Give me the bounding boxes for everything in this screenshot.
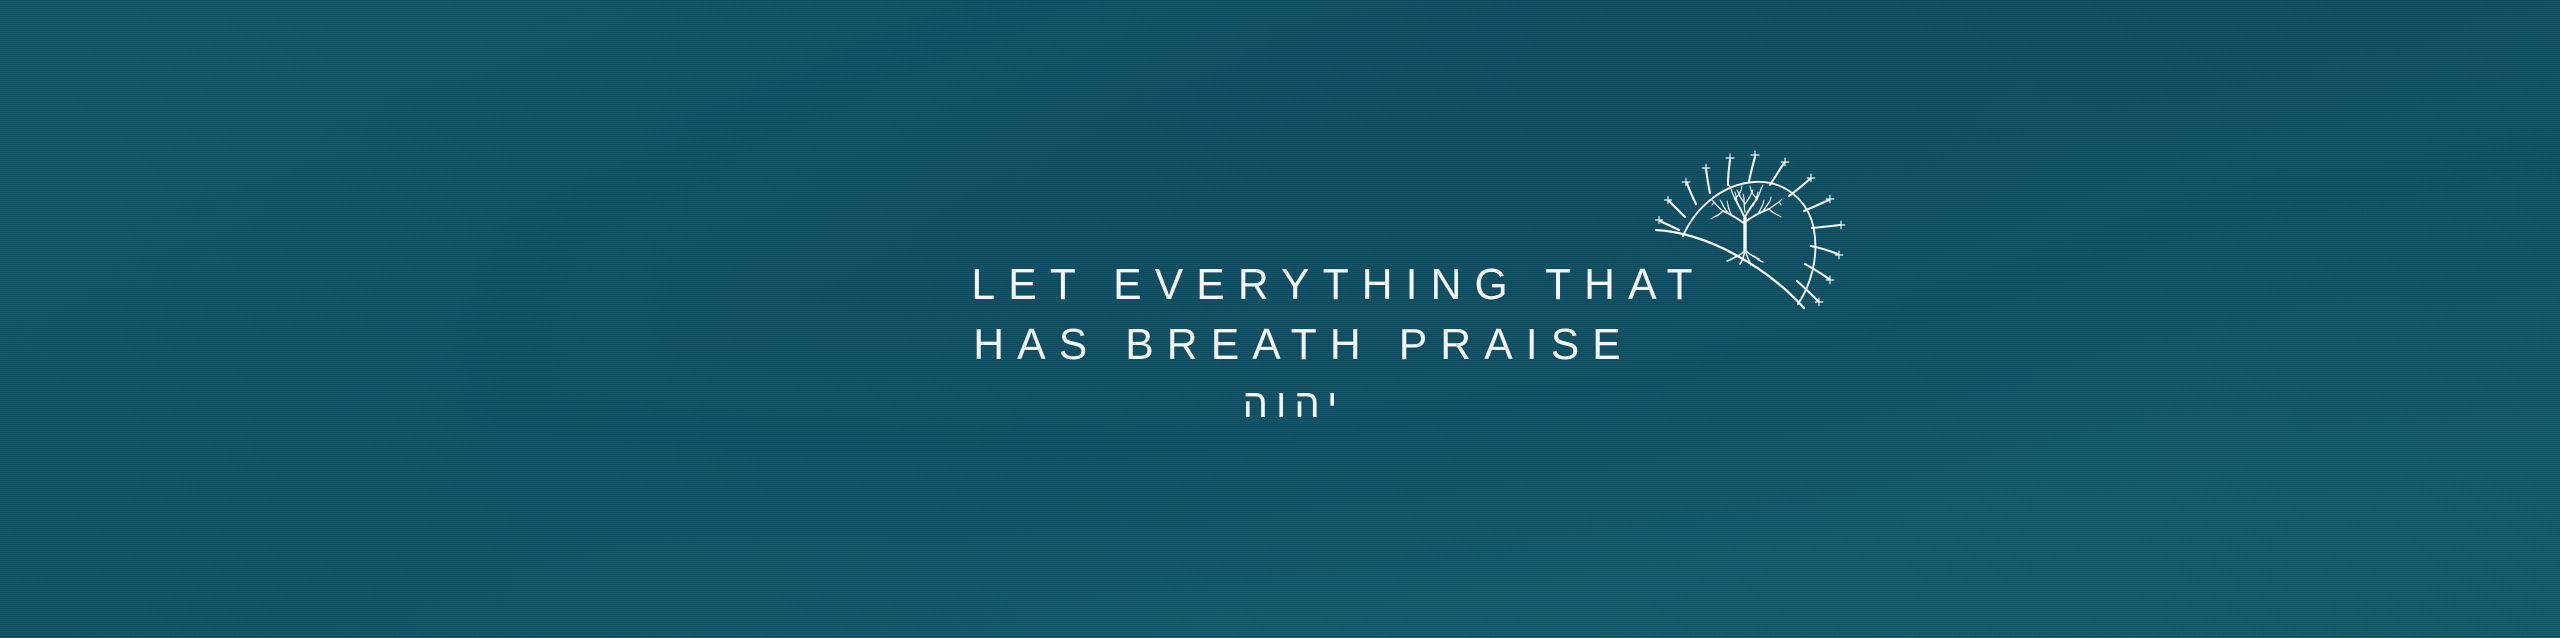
praise-banner: LET EVERYTHING THAT HAS BREATH PRAISE יה… [0, 0, 2560, 638]
headline-line-1: LET EVERYTHING THAT [141, 255, 2523, 315]
headline-line-2: HAS BREATH PRAISE [72, 315, 2522, 375]
tetragrammaton-hebrew: יהוה [36, 376, 2560, 432]
headline-block: LET EVERYTHING THAT HAS BREATH PRAISE יה… [0, 255, 2560, 432]
